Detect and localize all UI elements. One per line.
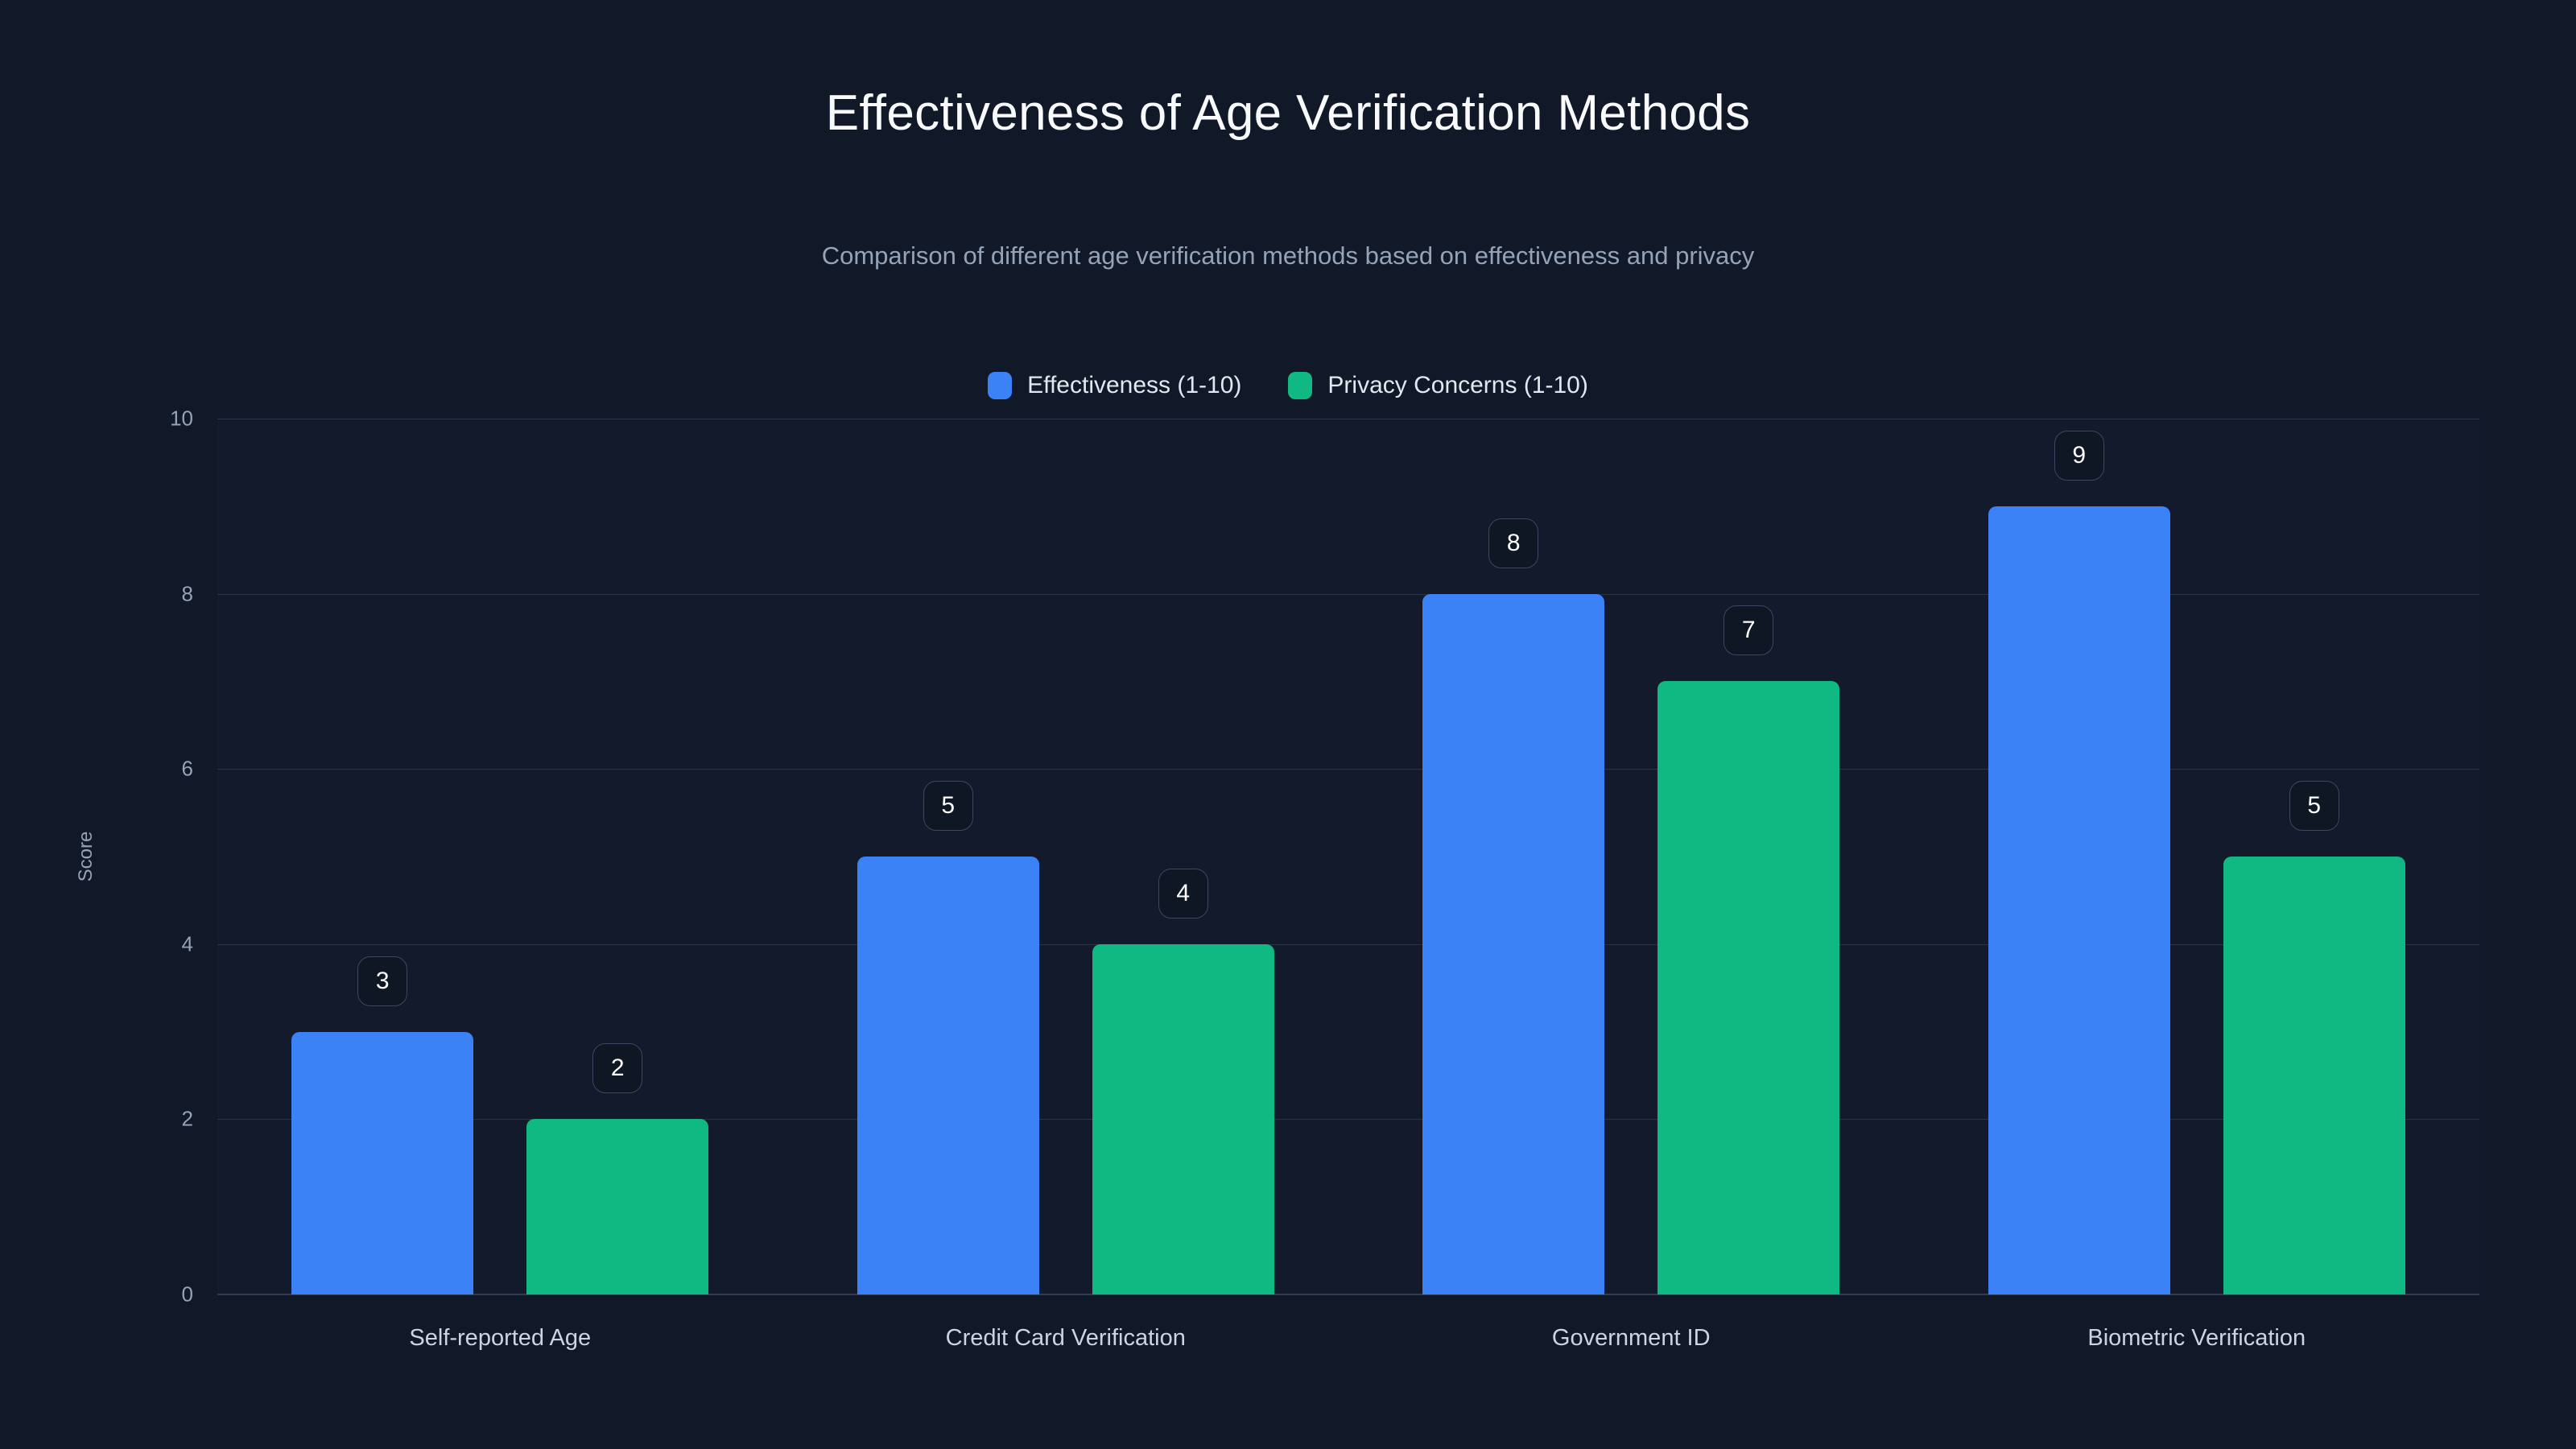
bar-value-label: 4	[1158, 869, 1208, 919]
bar-value-label: 2	[592, 1043, 642, 1093]
legend-swatch-icon	[988, 372, 1012, 399]
legend-item-label: Effectiveness (1-10)	[1027, 372, 1241, 399]
x-tick-label: Credit Card Verification	[946, 1325, 1186, 1352]
bar-value-label: 5	[923, 781, 973, 831]
y-tick-label: 10	[97, 407, 193, 431]
bar[interactable]	[1657, 681, 1839, 1294]
bar[interactable]	[1988, 506, 2170, 1294]
bar[interactable]	[1092, 944, 1274, 1294]
gridline	[217, 419, 2479, 419]
y-tick-label: 4	[97, 931, 193, 956]
y-axis-title: Score	[75, 832, 97, 882]
x-tick-label: Self-reported Age	[409, 1325, 591, 1352]
bar[interactable]	[857, 857, 1039, 1294]
bar-chart-figure: Effectiveness of Age Verification Method…	[0, 0, 2576, 1449]
y-tick-label: 0	[97, 1282, 193, 1307]
legend-swatch-icon	[1288, 372, 1312, 399]
x-tick-label: Biometric Verification	[2087, 1325, 2306, 1352]
bar[interactable]	[526, 1119, 708, 1294]
y-tick-label: 2	[97, 1107, 193, 1132]
bar[interactable]	[2223, 857, 2405, 1294]
bar-value-label: 9	[2054, 431, 2104, 481]
x-tick-label: Government ID	[1552, 1325, 1711, 1352]
chart-subtitle: Comparison of different age verification…	[0, 242, 2576, 270]
bar-value-label: 3	[357, 956, 407, 1006]
legend-item-1[interactable]: Effectiveness (1-10)	[988, 372, 1241, 399]
y-tick-label: 6	[97, 757, 193, 782]
bar[interactable]	[1422, 594, 1604, 1294]
bar-value-label: 7	[1724, 605, 1773, 655]
bar[interactable]	[291, 1032, 473, 1294]
page-title: Effectiveness of Age Verification Method…	[0, 85, 2576, 142]
bar-value-label: 8	[1488, 518, 1538, 568]
chart-legend: Effectiveness (1-10)Privacy Concerns (1-…	[0, 372, 2576, 399]
y-tick-label: 8	[97, 581, 193, 606]
legend-item-label: Privacy Concerns (1-10)	[1327, 372, 1587, 399]
bar-value-label: 5	[2289, 781, 2339, 831]
legend-item-2[interactable]: Privacy Concerns (1-10)	[1288, 372, 1587, 399]
